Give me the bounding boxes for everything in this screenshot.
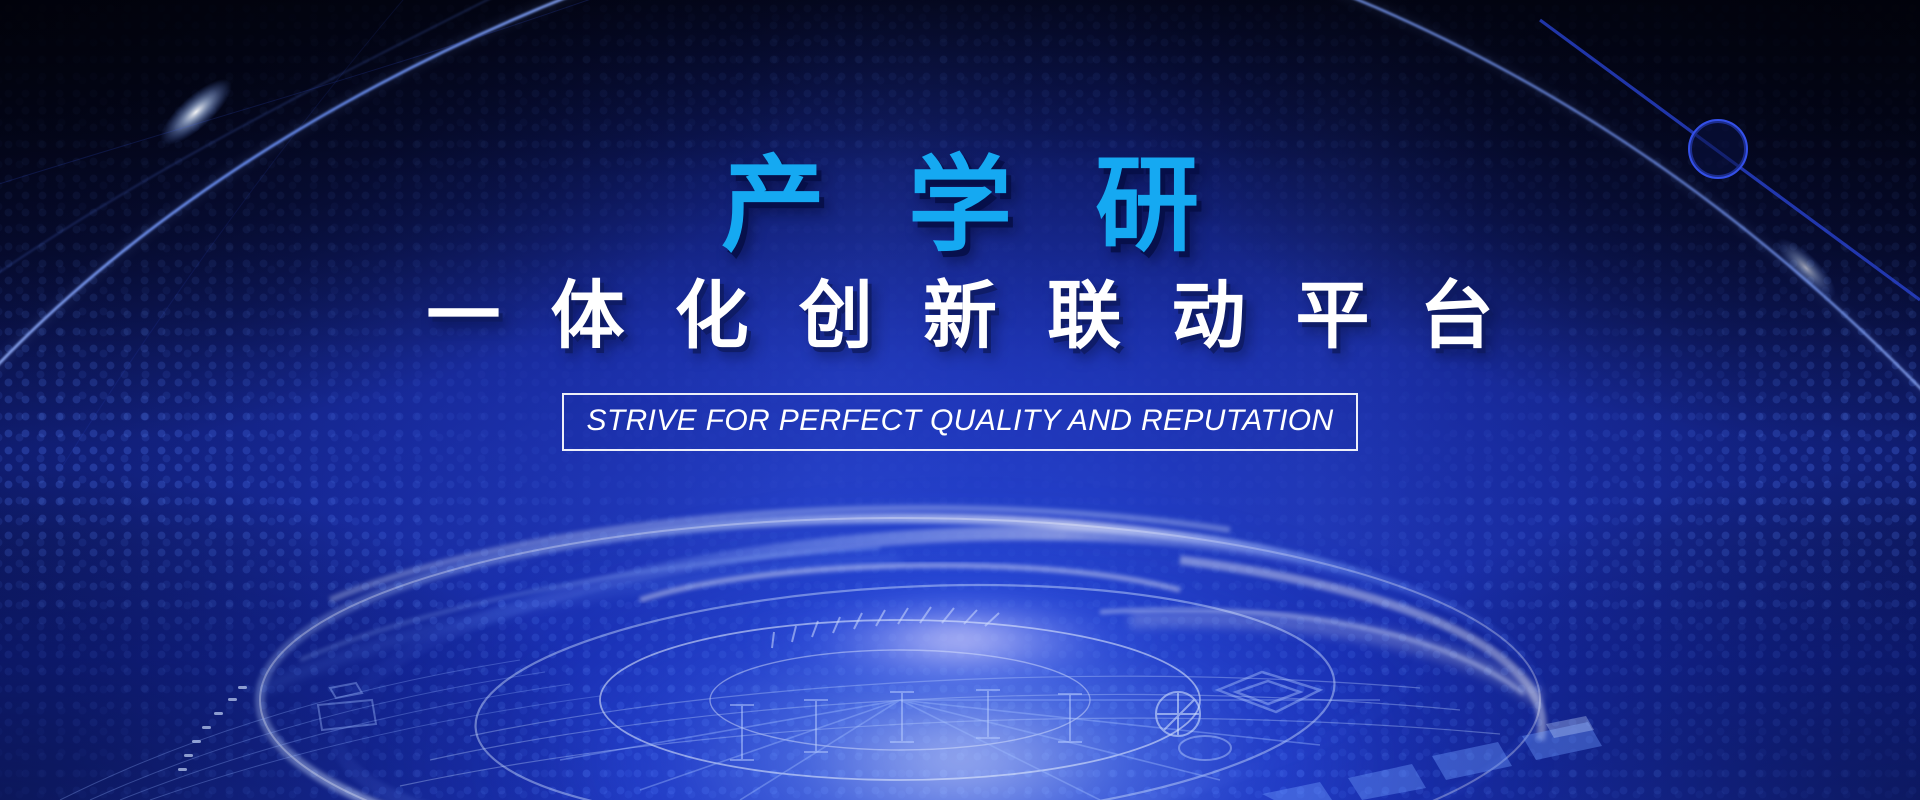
headline-secondary: 一 体 化 创 新 联 动 平 台: [0, 275, 1920, 356]
subtitle-text: STRIVE FOR PERFECT QUALITY AND REPUTATIO…: [586, 404, 1333, 437]
banner-root: 产 学 研 一 体 化 创 新 联 动 平 台 STRIVE FOR PERFE…: [0, 0, 1920, 800]
hud-center-glow: [750, 585, 1170, 695]
subtitle-wrapper: STRIVE FOR PERFECT QUALITY AND REPUTATIO…: [0, 393, 1920, 451]
banner-content: 产 学 研 一 体 化 创 新 联 动 平 台 STRIVE FOR PERFE…: [0, 0, 1920, 451]
subtitle-box: STRIVE FOR PERFECT QUALITY AND REPUTATIO…: [562, 393, 1357, 451]
headline-primary: 产 学 研: [0, 152, 1920, 261]
